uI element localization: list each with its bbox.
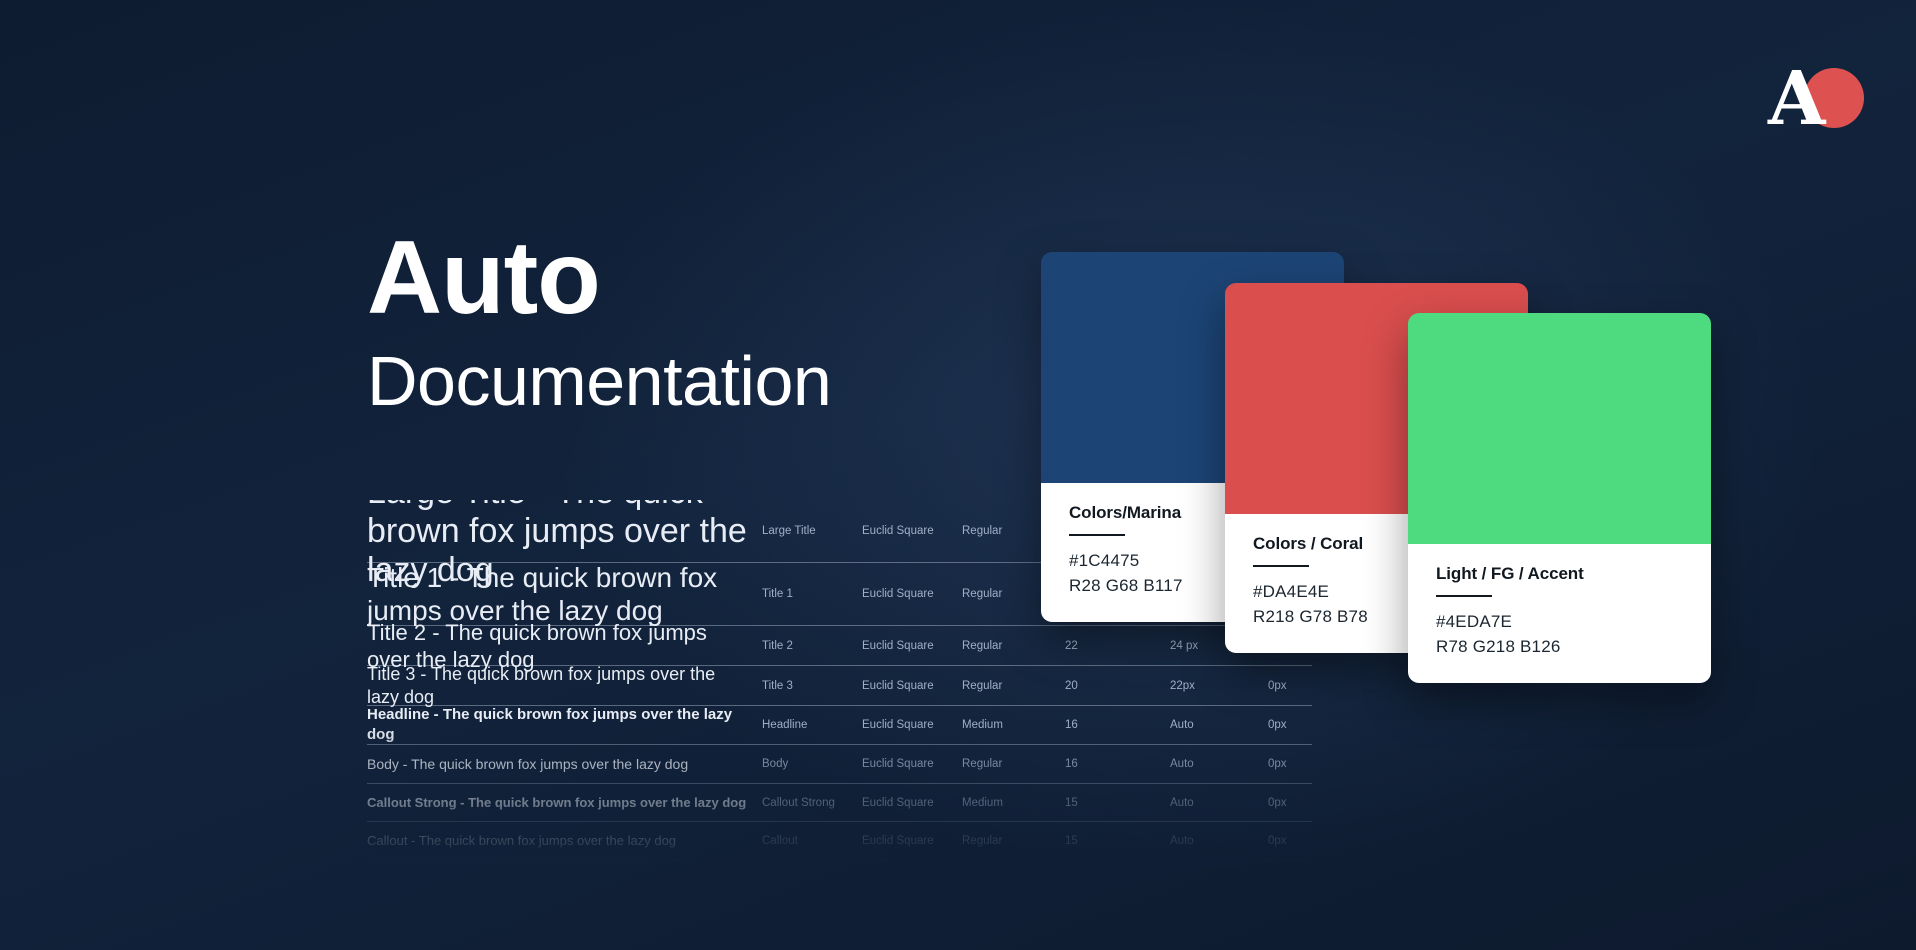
type-meta-line-height: Auto [1170,797,1268,809]
color-hex-value: #4EDA7E [1436,609,1683,634]
type-meta-line-height: Auto [1170,758,1268,770]
type-meta-name: Callout [762,835,862,847]
type-meta-font: Euclid Square [862,758,962,770]
type-meta-name: Callout Strong [762,797,862,809]
table-row: Body - The quick brown fox jumps over th… [367,745,1312,784]
type-meta-line-height: 22px [1170,680,1268,692]
type-meta-size: 16 [1065,719,1170,731]
hero-heading-group: Auto Documentation [367,224,831,422]
type-sample-text: Headline - The quick brown fox jumps ove… [367,705,762,745]
type-meta-size: 16 [1065,758,1170,770]
divider [1436,595,1492,597]
divider [1253,565,1309,567]
type-meta-size: 20 [1065,680,1170,692]
table-row: Headline - The quick brown fox jumps ove… [367,706,1312,745]
type-meta-weight: Regular [962,758,1065,770]
brand-logo: A [1768,68,1864,130]
type-sample-text: Title 1 - The quick brown fox jumps over… [367,561,762,627]
type-meta-name: Title 1 [762,588,862,600]
color-rgb-value: R78 G218 B126 [1436,634,1683,659]
color-swatch [1408,313,1711,544]
type-meta-weight: Regular [962,680,1065,692]
page-subtitle: Documentation [367,340,831,422]
type-meta-name: Body [762,758,862,770]
type-meta-weight: Medium [962,797,1065,809]
page-title: Auto [367,224,831,332]
type-meta-weight: Regular [962,835,1065,847]
logo-letter: A [1768,62,1825,136]
type-meta-font: Euclid Square [862,719,962,731]
type-meta-weight: Medium [962,719,1065,731]
type-sample-text: Body - The quick brown fox jumps over th… [367,755,762,774]
type-meta-name: Headline [762,719,862,731]
type-sample-text: Title 3 - The quick brown fox jumps over… [367,663,762,709]
type-meta-weight: Regular [962,640,1065,652]
table-row: Title 2 - The quick brown fox jumps over… [367,626,1312,666]
divider [1069,534,1125,536]
type-sample-text: Callout - The quick brown fox jumps over… [367,832,762,850]
type-meta-line-height: Auto [1170,835,1268,847]
type-sample-text: Callout Strong - The quick brown fox jum… [367,794,762,812]
type-meta-name: Title 2 [762,640,862,652]
type-meta-name: Title 3 [762,680,862,692]
type-meta-size: 15 [1065,835,1170,847]
type-meta-font: Euclid Square [862,588,962,600]
type-meta-font: Euclid Square [862,525,962,537]
table-row: Callout Strong - The quick brown fox jum… [367,784,1312,822]
type-meta-font: Euclid Square [862,835,962,847]
type-meta-size: 15 [1065,797,1170,809]
type-meta-size: 22 [1065,640,1170,652]
type-meta-font: Euclid Square [862,640,962,652]
color-card-accent[interactable]: Light / FG / Accent #4EDA7E R78 G218 B12… [1408,313,1711,683]
type-meta-font: Euclid Square [862,797,962,809]
table-row: Title 3 - The quick brown fox jumps over… [367,666,1312,706]
type-meta-name: Large Title [762,525,862,537]
table-row: Callout - The quick brown fox jumps over… [367,822,1312,860]
type-meta-line-height: Auto [1170,719,1268,731]
type-meta-font: Euclid Square [862,680,962,692]
color-card-title: Light / FG / Accent [1436,564,1683,584]
